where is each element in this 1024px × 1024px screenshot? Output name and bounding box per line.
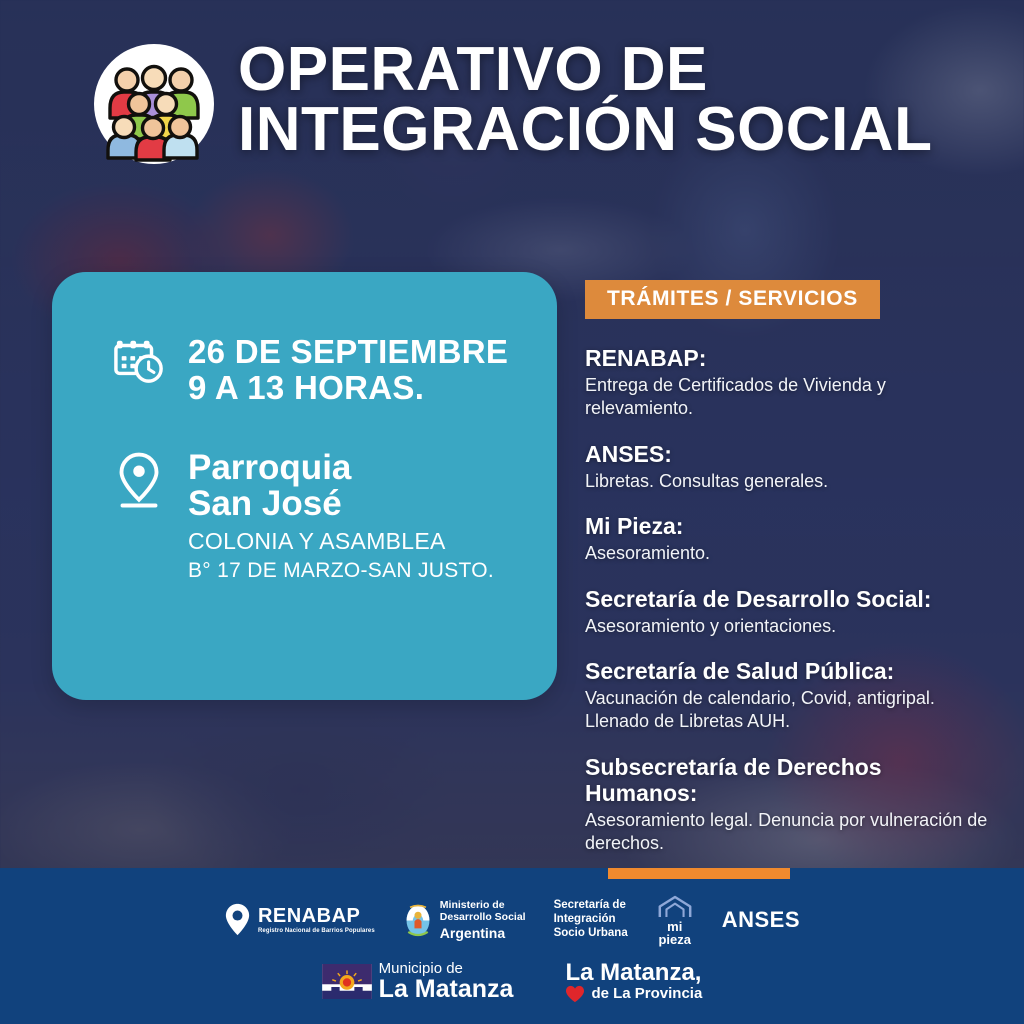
municipio-la-matanza-logo: Municipio de La Matanza — [322, 961, 514, 1003]
place-neighborhood: B° 17 DE MARZO-SAN JUSTO. — [188, 557, 494, 584]
renabap-name: RENABAP — [258, 906, 375, 926]
service-description: Libretas. Consultas generales. — [585, 470, 997, 493]
service-item: Secretaría de Salud Pública: Vacunación … — [585, 658, 997, 734]
la-matanza-crest-icon — [322, 964, 372, 999]
house-outline-icon — [656, 894, 694, 919]
anses-logo: ANSES — [722, 907, 800, 933]
event-time: 9 A 13 HORAS. — [188, 370, 508, 406]
service-description: Entrega de Certificados de Vivienda y re… — [585, 374, 997, 421]
mi-pieza-line-2: pieza — [658, 933, 691, 946]
provincia-line-1: La Matanza, — [565, 960, 702, 985]
siu-line-1: Secretaría de — [554, 899, 628, 913]
municipio-line-1: Municipio de — [379, 961, 514, 977]
secretaria-integracion-socio-urbana-logo: Secretaría de Integración Socio Urbana — [554, 899, 628, 940]
event-info-card: 26 DE SEPTIEMBRE 9 A 13 HORAS. Parroquia… — [52, 272, 557, 700]
date-time-row: 26 DE SEPTIEMBRE 9 A 13 HORAS. — [110, 334, 508, 405]
poster-header: OPERATIVO DE INTEGRACIÓN SOCIAL — [92, 34, 984, 166]
group-of-people-icon — [92, 42, 216, 166]
service-item: Secretaría de Desarrollo Social: Asesora… — [585, 586, 997, 638]
service-item: Subsecretaría de Derechos Humanos: Aseso… — [585, 754, 997, 856]
poster-title-line-1: OPERATIVO DE — [238, 40, 932, 100]
argentina-coat-of-arms-icon — [403, 902, 433, 939]
footer-logos-row-2: Municipio de La Matanza La Matanza, de L… — [0, 960, 1024, 1003]
poster-title-line-2: INTEGRACIÓN SOCIAL — [238, 100, 932, 160]
location-row: Parroquia San José COLONIA Y ASAMBLEA B°… — [110, 450, 494, 584]
services-section: TRÁMITES / SERVICIOS RENABAP: Entrega de… — [585, 280, 997, 875]
ministerio-desarrollo-social-logo: Ministerio de Desarrollo Social Argentin… — [403, 899, 526, 940]
service-item: RENABAP: Entrega de Certificados de Vivi… — [585, 345, 997, 421]
event-date: 26 DE SEPTIEMBRE — [188, 334, 508, 370]
service-title: ANSES: — [585, 441, 997, 467]
footer-accent-bar — [608, 868, 790, 879]
service-title: Secretaría de Salud Pública: — [585, 658, 997, 684]
services-banner-label: TRÁMITES / SERVICIOS — [585, 280, 880, 319]
ministerio-line-1: Ministerio de — [440, 899, 526, 911]
title-block: OPERATIVO DE INTEGRACIÓN SOCIAL — [238, 34, 932, 159]
service-title: Subsecretaría de Derechos Humanos: — [585, 754, 997, 806]
ministerio-line-3: Argentina — [440, 925, 526, 941]
place-name-line-1: Parroquia — [188, 450, 494, 486]
service-description: Asesoramiento. — [585, 542, 997, 565]
service-title: RENABAP: — [585, 345, 997, 371]
renabap-logo: RENABAP Registro Nacional de Barrios Pop… — [224, 903, 375, 937]
service-description: Asesoramiento y orientaciones. — [585, 615, 997, 638]
map-pin-icon — [224, 903, 251, 937]
service-title: Secretaría de Desarrollo Social: — [585, 586, 997, 612]
siu-line-2: Integración — [554, 913, 628, 927]
service-item: Mi Pieza: Asesoramiento. — [585, 513, 997, 565]
location-text: Parroquia San José COLONIA Y ASAMBLEA B°… — [188, 450, 494, 584]
date-time-text: 26 DE SEPTIEMBRE 9 A 13 HORAS. — [188, 334, 508, 405]
renabap-subtitle: Registro Nacional de Barrios Populares — [258, 928, 375, 934]
service-item: ANSES: Libretas. Consultas generales. — [585, 441, 997, 493]
place-name-line-2: San José — [188, 486, 494, 522]
mi-pieza-logo: mi pieza — [656, 894, 694, 946]
footer-logos-row-1: RENABAP Registro Nacional de Barrios Pop… — [0, 894, 1024, 946]
la-matanza-provincia-logo: La Matanza, de La Provincia — [565, 960, 702, 1003]
anses-name: ANSES — [722, 907, 800, 933]
service-description: Asesoramiento legal. Denuncia por vulner… — [585, 809, 997, 856]
service-description: Vacunación de calendario, Covid, antigri… — [585, 687, 997, 734]
calendar-clock-icon — [110, 334, 168, 384]
ministerio-line-2: Desarrollo Social — [440, 911, 526, 923]
provincia-line-2: de La Provincia — [591, 986, 702, 1002]
service-title: Mi Pieza: — [585, 513, 997, 539]
poster-root: OPERATIVO DE INTEGRACIÓN SOCIAL — [0, 0, 1024, 1024]
map-pin-icon — [110, 450, 168, 509]
heart-icon — [565, 985, 585, 1003]
place-address: COLONIA Y ASAMBLEA — [188, 527, 494, 557]
municipio-line-2: La Matanza — [379, 976, 514, 1002]
services-list: RENABAP: Entrega de Certificados de Vivi… — [585, 345, 997, 855]
siu-line-3: Socio Urbana — [554, 927, 628, 941]
poster-footer: RENABAP Registro Nacional de Barrios Pop… — [0, 868, 1024, 1024]
